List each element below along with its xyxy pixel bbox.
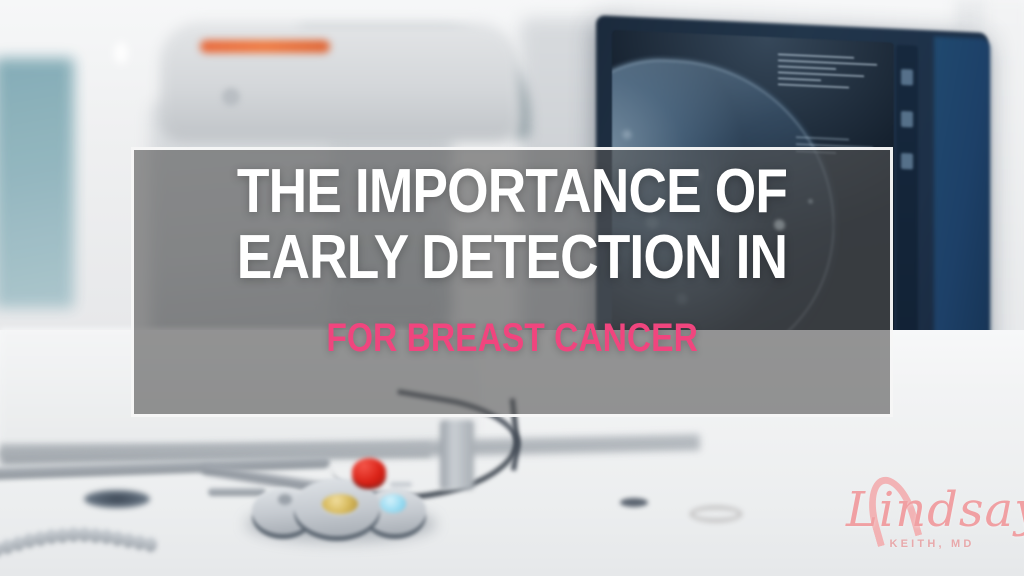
- pendant-dial-control[interactable]: [320, 492, 360, 516]
- coiled-cable: [0, 520, 210, 560]
- desk-object-ring: [690, 506, 742, 522]
- banner-graphic: THE IMPORTANCE OF EARLY DETECTION IN FOR…: [0, 0, 1024, 576]
- pendant-notch: [390, 482, 412, 487]
- teal-door-panel: [0, 58, 74, 308]
- emergency-stop-button[interactable]: [352, 458, 386, 486]
- control-pendant[interactable]: [252, 476, 428, 538]
- desk-object-dark: [620, 498, 648, 507]
- logo-credential: KEITH, MD: [846, 538, 1018, 550]
- page-subtitle: FOR BREAST CANCER: [326, 318, 697, 358]
- logo-name: Lindsay: [846, 474, 1018, 546]
- ceiling-light: [114, 42, 128, 64]
- pendant-indicator-button[interactable]: [380, 494, 406, 513]
- machine-control-dot: [222, 88, 240, 106]
- brand-logo[interactable]: Lindsay KEITH, MD: [846, 474, 1018, 570]
- pendant-secondary-button[interactable]: [278, 494, 292, 505]
- right-wall-upper: [955, 0, 985, 30]
- dicom-overlay-text-top: [778, 53, 886, 130]
- title-overlay: THE IMPORTANCE OF EARLY DETECTION IN FOR…: [131, 147, 893, 417]
- page-title: THE IMPORTANCE OF EARLY DETECTION IN: [237, 163, 787, 288]
- title-line-2: EARLY DETECTION IN: [237, 229, 787, 287]
- desk-cable-grommet: [84, 490, 150, 508]
- title-line-1: THE IMPORTANCE OF: [237, 157, 787, 226]
- equipment-post: [440, 420, 474, 490]
- machine-accent-stripe: [200, 40, 330, 53]
